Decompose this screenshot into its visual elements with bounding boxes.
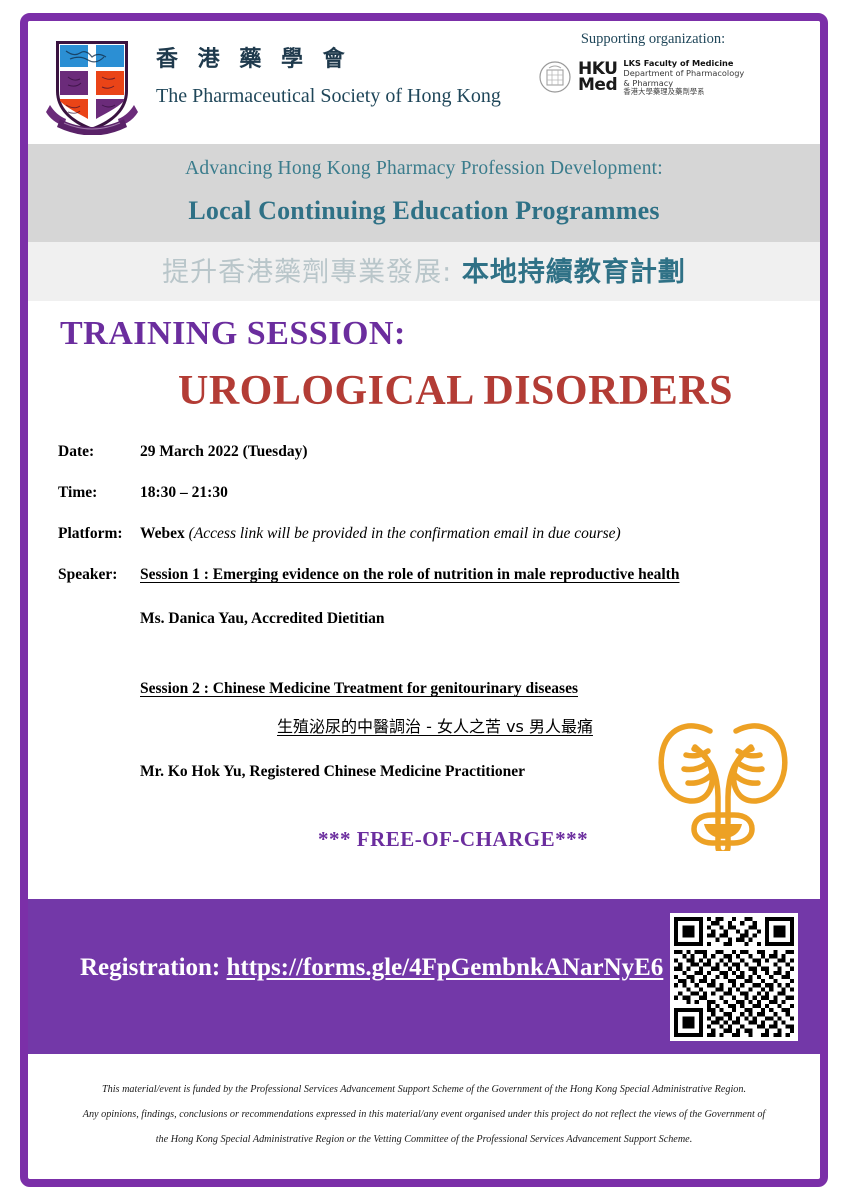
- detail-row-platform: Platform: Webex (Access link will be pro…: [28, 525, 820, 543]
- disclaimer-line-2: Any opinions, findings, conclusions or r…: [62, 1103, 786, 1128]
- platform-note: (Access link will be provided in the con…: [185, 525, 621, 542]
- poster-frame: 香 港 藥 學 會 The Pharmaceutical Society of …: [20, 13, 828, 1187]
- programme-banner: Advancing Hong Kong Pharmacy Profession …: [28, 144, 820, 242]
- registration-band: Registration: https://forms.gle/4FpGembn…: [28, 899, 820, 1054]
- date-value: 29 March 2022 (Tuesday): [140, 443, 308, 461]
- supporting-org-label: Supporting organization:: [538, 31, 768, 48]
- free-of-charge-text: *** FREE-OF-CHARGE***: [318, 827, 588, 852]
- event-title-block: TRAINING SESSION: UROLOGICAL DISORDERS: [28, 301, 820, 419]
- platform-value: Webex (Access link will be provided in t…: [140, 525, 621, 543]
- banner-cn-bold: 本地持續教育計劃: [462, 257, 686, 288]
- date-label: Date:: [28, 443, 140, 461]
- event-topic-title: UROLOGICAL DISORDERS: [28, 367, 820, 415]
- speaker-label: Speaker:: [28, 566, 140, 781]
- registration-qr-code[interactable]: [670, 913, 798, 1041]
- banner-cn-dim: 提升香港藥劑專業發展:: [162, 257, 462, 288]
- hku-wordmark: HKU Med: [578, 61, 617, 93]
- banner-tagline: Advancing Hong Kong Pharmacy Profession …: [38, 158, 810, 180]
- footer-disclaimer: This material/event is funded by the Pro…: [28, 1054, 820, 1153]
- training-session-label: TRAINING SESSION:: [28, 315, 820, 353]
- session-1-title: Session 1 : Emerging evidence on the rol…: [140, 566, 820, 584]
- free-of-charge-area: *** FREE-OF-CHARGE***: [28, 781, 820, 899]
- disclaimer-line-1: This material/event is funded by the Pro…: [62, 1078, 786, 1103]
- organization-names: 香 港 藥 學 會 The Pharmaceutical Society of …: [156, 41, 501, 108]
- programme-banner-cn: 提升香港藥劑專業發展: 本地持續教育計劃: [28, 242, 820, 301]
- registration-label: Registration:: [80, 954, 227, 981]
- platform-label: Platform:: [28, 525, 140, 543]
- pshk-crest-logo: [46, 35, 138, 135]
- detail-row-date: Date: 29 March 2022 (Tuesday): [28, 443, 820, 461]
- banner-heading: Local Continuing Education Programmes: [38, 196, 810, 226]
- platform-name: Webex: [140, 525, 185, 542]
- hku-seal-icon: [538, 60, 572, 94]
- urinary-system-icon: [648, 701, 798, 851]
- org-name-cn: 香 港 藥 學 會: [156, 41, 501, 73]
- time-value: 18:30 – 21:30: [140, 484, 228, 502]
- org-name-en: The Pharmaceutical Society of Hong Kong: [156, 85, 501, 108]
- disclaimer-line-3: the Hong Kong Special Administrative Reg…: [62, 1128, 786, 1153]
- registration-text: Registration: https://forms.gle/4FpGembn…: [80, 954, 663, 982]
- session-1-speaker: Ms. Danica Yau, Accredited Dietitian: [140, 610, 820, 628]
- session-1: Session 1 : Emerging evidence on the rol…: [140, 566, 820, 628]
- poster-header: 香 港 藥 學 會 The Pharmaceutical Society of …: [28, 21, 820, 144]
- session-2-title: Session 2 : Chinese Medicine Treatment f…: [140, 680, 820, 698]
- detail-row-time: Time: 18:30 – 21:30: [28, 484, 820, 502]
- supporting-organization: Supporting organization: HKU Med LKS Fac…: [538, 31, 768, 97]
- hku-med-logo: HKU Med LKS Faculty of Medicine Departme…: [538, 58, 768, 97]
- registration-url[interactable]: https://forms.gle/4FpGembnkANarNyE6: [227, 954, 664, 981]
- time-label: Time:: [28, 484, 140, 502]
- hku-department-text: LKS Faculty of Medicine Department of Ph…: [623, 58, 744, 97]
